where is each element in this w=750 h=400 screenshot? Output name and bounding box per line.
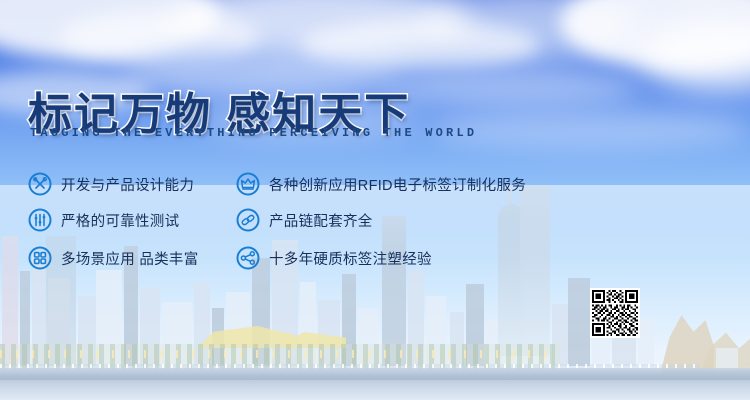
feature-label: 十多年硬质标签注塑经验 (269, 248, 432, 269)
feature-label: 多场景应用 品类丰富 (61, 248, 199, 269)
feature-item-development: 开发与产品设计能力 (28, 172, 194, 196)
feature-item-reliability: 严格的可靠性测试 (28, 208, 179, 232)
feature-item-applications: 多场景应用 品类丰富 (28, 246, 199, 270)
feature-label: 严格的可靠性测试 (61, 210, 179, 231)
feature-label: 各种创新应用RFID电子标签订制化服务 (269, 174, 526, 195)
feature-label: 产品链配套齐全 (269, 210, 373, 231)
feature-item-experience: 十多年硬质标签注塑经验 (236, 246, 432, 270)
promo-banner: 标记万物 感知天下 TAGGING THE EVERYTHING PERCEIV… (0, 0, 750, 400)
link-icon (236, 208, 260, 232)
feature-item-supply-chain: 产品链配套齐全 (236, 208, 373, 232)
share-icon (236, 246, 260, 270)
sliders-icon (28, 208, 52, 232)
crown-icon (236, 172, 260, 196)
grid-icon (28, 246, 52, 270)
qr-code[interactable] (590, 288, 640, 338)
tools-icon (28, 172, 52, 196)
feature-label: 开发与产品设计能力 (61, 174, 194, 195)
banner-subtitle: TAGGING THE EVERYTHING PERCEIVING THE WO… (30, 126, 477, 140)
feature-item-rfid-customization: 各种创新应用RFID电子标签订制化服务 (236, 172, 526, 196)
